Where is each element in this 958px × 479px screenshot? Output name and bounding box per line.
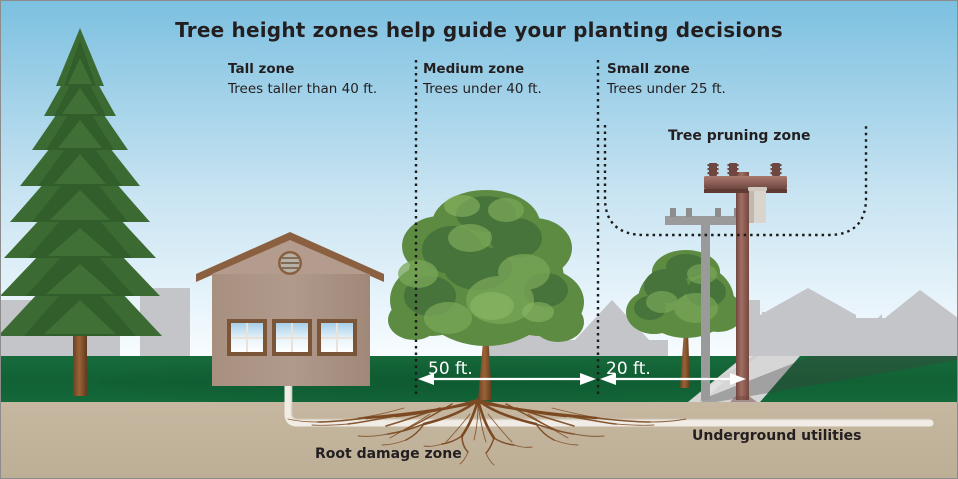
zone-label-tall-sub: Trees taller than 40 ft. bbox=[228, 81, 377, 97]
dimension-label-20ft: 20 ft. bbox=[606, 359, 651, 379]
dimension-label-50ft: 50 ft. bbox=[428, 359, 473, 379]
pruning-zone-label: Tree pruning zone bbox=[668, 128, 811, 144]
pole-transformer bbox=[748, 187, 767, 223]
zone-label-small-heading: Small zone bbox=[607, 61, 690, 77]
zone-label-medium-heading: Medium zone bbox=[423, 61, 524, 77]
infographic-canvas: Tree height zones help guide your planti… bbox=[0, 0, 958, 479]
zone-label-tall-heading: Tall zone bbox=[228, 61, 294, 77]
root-damage-zone-label: Root damage zone bbox=[315, 446, 462, 462]
underground-utilities-label: Underground utilities bbox=[692, 428, 862, 444]
zone-label-medium-sub: Trees under 40 ft. bbox=[423, 81, 542, 97]
zone-label-small-sub: Trees under 25 ft. bbox=[607, 81, 726, 97]
attic-vent bbox=[278, 251, 302, 275]
page-title: Tree height zones help guide your planti… bbox=[0, 18, 958, 42]
house-windows bbox=[227, 319, 357, 356]
